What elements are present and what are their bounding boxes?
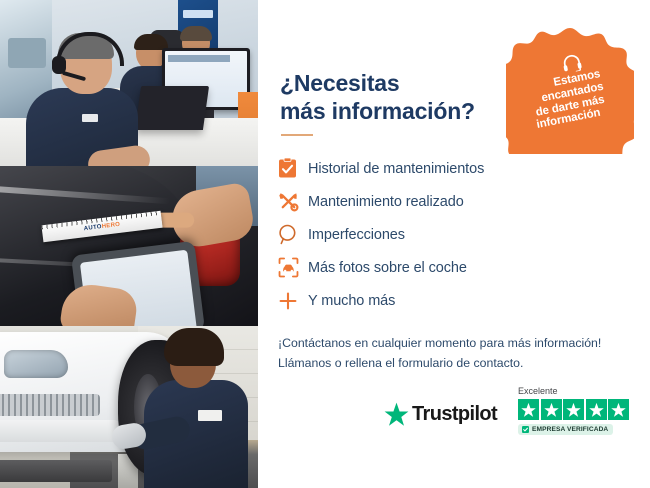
contact-paragraph: ¡Contáctanos en cualquier momento para m… <box>278 334 634 374</box>
ruler-logo-hero: HERO <box>101 221 120 229</box>
page-title-line1: ¿Necesitas <box>280 70 399 96</box>
badge-content: Estamos encantados de darte más informac… <box>495 15 645 165</box>
lift-pad <box>0 460 112 482</box>
car-headlight <box>4 350 68 378</box>
car-grille <box>0 394 100 416</box>
verified-check-icon <box>522 426 529 433</box>
trustpilot-wordmark: Trustpilot <box>412 403 497 426</box>
clipboard-check-icon <box>278 156 308 182</box>
mechanic-wheel-photo <box>0 326 258 488</box>
mechanic-uniform-logo <box>198 410 222 421</box>
tools-cross-icon <box>278 189 308 215</box>
ruler-logo-auto: AUTO <box>83 224 102 232</box>
feature-item-imperfecciones: Imperfecciones <box>278 218 618 251</box>
car-frame-icon <box>278 255 308 281</box>
feature-label: Imperfecciones <box>308 227 405 243</box>
verified-badge: EMPRESA VERIFICADA <box>518 424 613 435</box>
trustpilot-logo[interactable]: Trustpilot <box>384 402 497 426</box>
mechanic <box>142 332 250 488</box>
title-divider <box>281 134 313 136</box>
contact-line-1: ¡Contáctanos en cualquier momento para m… <box>278 336 601 350</box>
rating-stars <box>518 399 634 420</box>
feature-item-mantenimiento: Mantenimiento realizado <box>278 185 618 218</box>
content-panel: ¿Necesitas más información? Estamos enca… <box>258 0 650 488</box>
feature-item-historial: Historial de mantenimientos <box>278 152 618 185</box>
feature-list: Historial de mantenimientos Mantenimient… <box>278 152 618 317</box>
page-title-line2: más información? <box>280 98 475 124</box>
rating-star <box>608 399 629 420</box>
car-inspection-ruler-photo: AUTOHERO <box>0 166 258 326</box>
laptop <box>135 86 209 130</box>
feature-label: Y mucho más <box>308 293 395 309</box>
agent-1-name-badge <box>82 114 98 122</box>
trustpilot-star-icon <box>384 402 409 426</box>
feature-label: Mantenimiento realizado <box>308 194 464 210</box>
plus-icon <box>278 288 308 314</box>
promo-banner: AUTOHERO <box>0 0 650 488</box>
trustpilot-widget[interactable]: Trustpilot Excelente EMPRESA VERIFICA <box>384 386 634 452</box>
mechanic-hair <box>164 328 224 366</box>
badge-text: Estamos encantados de darte más informac… <box>516 64 628 134</box>
feature-item-fotos: Más fotos sobre el coche <box>278 251 618 284</box>
feature-item-mucho-mas: Y mucho más <box>278 284 618 317</box>
contact-line-2: Llámanos o rellena el formulario de cont… <box>278 356 523 370</box>
feature-label: Historial de mantenimientos <box>308 161 484 177</box>
magnifier-icon <box>278 222 308 248</box>
rating-star <box>586 399 607 420</box>
photo-collage: AUTOHERO <box>0 0 258 488</box>
verified-label: EMPRESA VERIFICADA <box>532 426 608 433</box>
rating-star <box>518 399 539 420</box>
feature-label: Más fotos sobre el coche <box>308 260 467 276</box>
page-title: ¿Necesitas más información? <box>280 69 510 125</box>
trustpilot-rating: Excelente EMPRESA VERIFICADA <box>518 386 634 438</box>
rating-label: Excelente <box>518 386 634 396</box>
car-bumper <box>0 420 120 442</box>
agent-1 <box>26 36 134 166</box>
rating-star <box>563 399 584 420</box>
call-center-agents-photo <box>0 0 258 166</box>
promo-badge: Estamos encantados de darte más informac… <box>506 26 634 154</box>
rating-star <box>541 399 562 420</box>
